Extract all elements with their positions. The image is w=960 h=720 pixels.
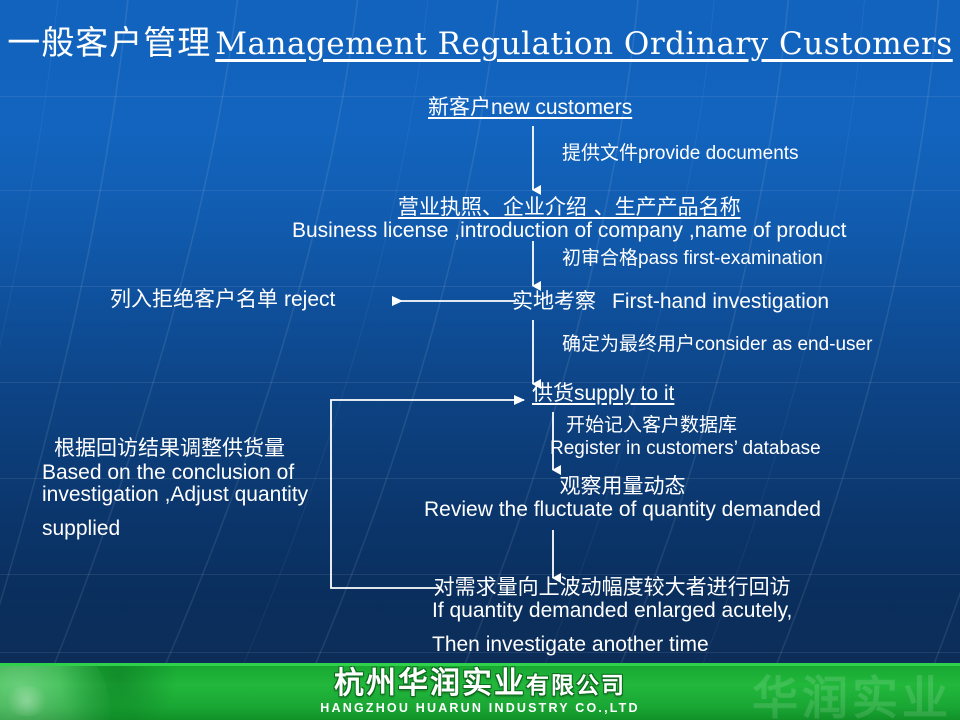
node-required-documents-en: Business license ,introduction of compan… <box>292 220 846 243</box>
footer-banner: 华润实业 杭州华润实业有限公司 HANGZHOU HUARUN INDUSTRY… <box>0 663 960 720</box>
node-supply-cn: 供货 <box>532 381 574 405</box>
node-new-customers-cn: 新客户 <box>428 95 491 119</box>
node-supply: 供货supply to it <box>532 382 674 406</box>
node-reject: 列入拒绝客户名单reject <box>110 288 335 312</box>
node-review-fluctuation-en: Review the fluctuate of quantity demande… <box>424 499 821 522</box>
node-feedback-adjust-en-3: supplied <box>42 518 308 541</box>
edge-label-pass-first-examination-en: pass first-examination <box>638 248 823 269</box>
node-required-documents: 营业执照、企业介绍 、生产产品名称 Business license ,intr… <box>292 196 846 242</box>
edge-label-consider-end-user-cn: 确定为最终用户 <box>562 333 695 355</box>
footer-text-group: 杭州华润实业有限公司 HANGZHOU HUARUN INDUSTRY CO.,… <box>0 666 960 715</box>
node-supply-en: supply to it <box>574 382 674 405</box>
node-first-hand-investigation-en: First-hand investigation <box>612 290 829 313</box>
node-new-customers-en: new customers <box>491 96 632 119</box>
node-new-customers: 新客户new customers <box>428 96 632 120</box>
node-required-documents-cn: 营业执照、企业介绍 、生产产品名称 <box>292 196 846 219</box>
edge-label-consider-end-user-en: consider as end-user <box>695 334 872 355</box>
node-first-hand-investigation-cn: 实地考察 <box>512 289 596 313</box>
node-review-fluctuation: 观察用量动态 Review the fluctuate of quantity … <box>424 475 821 521</box>
edge-label-pass-first-examination-cn: 初审合格 <box>562 247 638 269</box>
node-reject-cn: 列入拒绝客户名单 <box>110 287 278 311</box>
slide-title-english: Management Regulation Ordinary Customers <box>215 26 952 62</box>
footer-company-name-suffix: 有限公司 <box>526 673 626 699</box>
edge-label-provide-documents: 提供文件provide documents <box>562 143 799 165</box>
footer-company-name-cn: 杭州华润实业有限公司 <box>0 668 960 700</box>
slide-canvas: 一般客户管理Management Regulation Ordinary Cus… <box>0 0 960 720</box>
node-revisit-customer-en-1: If quantity demanded enlarged acutely, <box>432 600 792 623</box>
node-feedback-adjust-cn: 根据回访结果调整供货量 <box>54 437 308 460</box>
footer-company-name-main: 杭州华润实业 <box>334 666 526 701</box>
slide-title: 一般客户管理Management Regulation Ordinary Cus… <box>0 26 960 60</box>
node-reject-en: reject <box>284 288 335 311</box>
node-revisit-customer-cn: 对需求量向上波动幅度较大者进行回访 <box>432 576 792 599</box>
node-revisit-customer-en-2: Then investigate another time <box>432 634 792 657</box>
edge-label-register-database-en: Register in customers’ database <box>550 438 821 460</box>
slide-title-chinese: 一般客户管理 <box>7 23 211 62</box>
edge-label-pass-first-examination: 初审合格pass first-examination <box>562 248 823 270</box>
edge-label-register-database: 开始记入客户数据库 Register in customers’ databas… <box>566 415 821 460</box>
edge-label-provide-documents-en: provide documents <box>638 143 799 164</box>
node-feedback-adjust-en-2: investigation ,Adjust quantity <box>42 484 308 507</box>
footer-company-name-en: HANGZHOU HUARUN INDUSTRY CO.,LTD <box>0 701 960 715</box>
node-feedback-adjust: 根据回访结果调整供货量 Based on the conclusion of i… <box>42 437 308 541</box>
node-feedback-adjust-en-1: Based on the conclusion of <box>42 462 308 485</box>
edge-label-provide-documents-cn: 提供文件 <box>562 142 638 164</box>
edge-label-register-database-cn: 开始记入客户数据库 <box>566 415 821 437</box>
node-first-hand-investigation: 实地考察First-hand investigation <box>512 290 829 314</box>
node-review-fluctuation-cn: 观察用量动态 <box>424 475 821 498</box>
node-revisit-customer: 对需求量向上波动幅度较大者进行回访 If quantity demanded e… <box>432 576 792 657</box>
edge-label-consider-end-user: 确定为最终用户consider as end-user <box>562 334 872 356</box>
